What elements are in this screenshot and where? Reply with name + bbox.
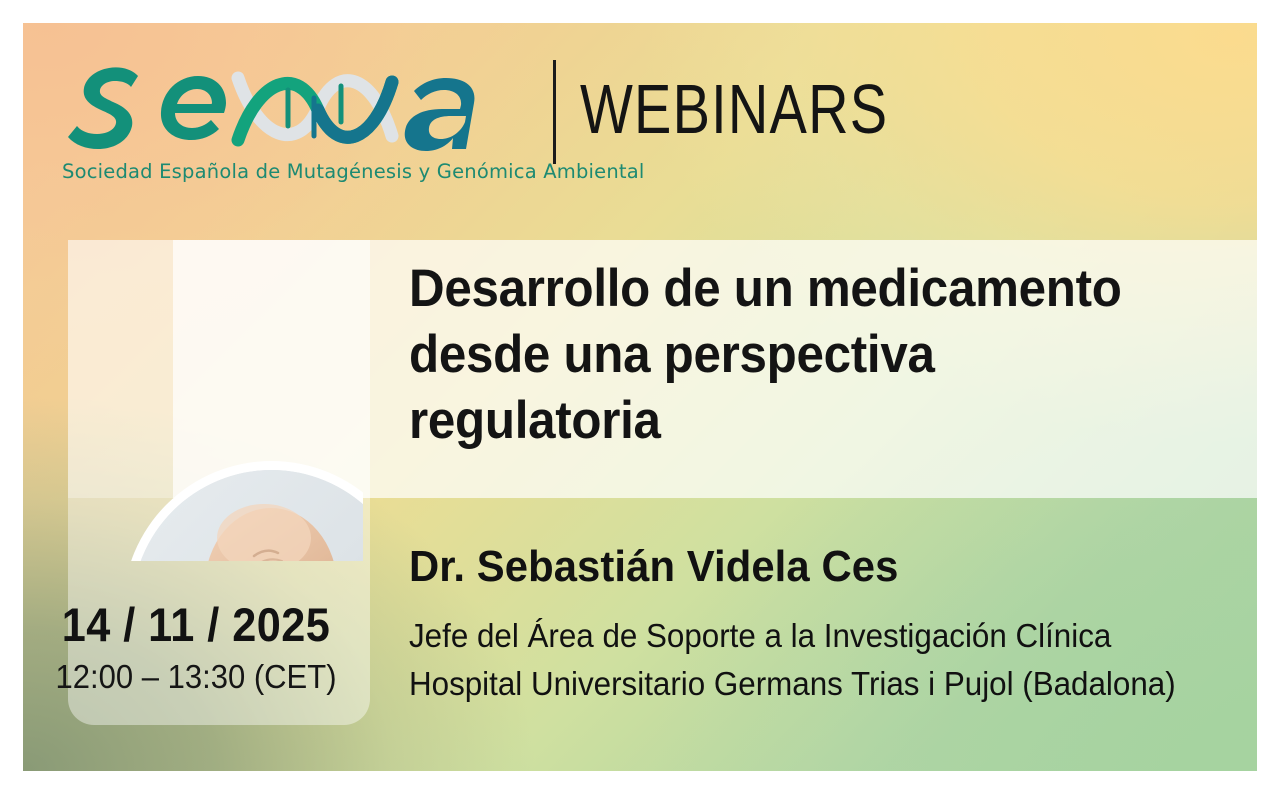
webinar-datetime: 14 / 11 / 2025 12:00 – 13:30 (CET)	[45, 600, 347, 698]
webinar-time: 12:00 – 13:30 (CET)	[54, 656, 338, 698]
speaker-portrait	[132, 470, 363, 561]
speaker-photo-frame	[123, 461, 363, 561]
speaker-photo-container	[60, 216, 363, 561]
section-label-webinars: WEBINARS	[580, 70, 888, 148]
title-line-1: Desarrollo de un medicamento	[409, 256, 1060, 322]
logo-divider	[553, 60, 556, 164]
brand-tagline: Sociedad Española de Mutagénesis y Genóm…	[62, 160, 532, 183]
title-line-3: regulatoria	[409, 388, 1060, 454]
speaker-role: Jefe del Área de Soporte a la Investigac…	[409, 612, 1131, 660]
title-line-2: desde una perspectiva	[409, 322, 1060, 388]
dna-helix-icon	[238, 78, 392, 140]
webinar-title: Desarrollo de un medicamento desde una p…	[409, 256, 1109, 454]
speaker-name: Dr. Sebastián Videla Ces	[409, 540, 1131, 594]
sema-wordmark	[62, 52, 530, 160]
webinar-date: 14 / 11 / 2025	[57, 600, 335, 650]
speaker-affiliation: Hospital Universitario Germans Trias i P…	[409, 660, 1131, 708]
speaker-info: Dr. Sebastián Videla Ces Jefe del Área d…	[409, 540, 1169, 708]
webinar-poster: Sociedad Española de Mutagénesis y Genóm…	[0, 0, 1280, 793]
avatar	[123, 461, 363, 561]
brand-logo: Sociedad Española de Mutagénesis y Genóm…	[62, 52, 822, 202]
